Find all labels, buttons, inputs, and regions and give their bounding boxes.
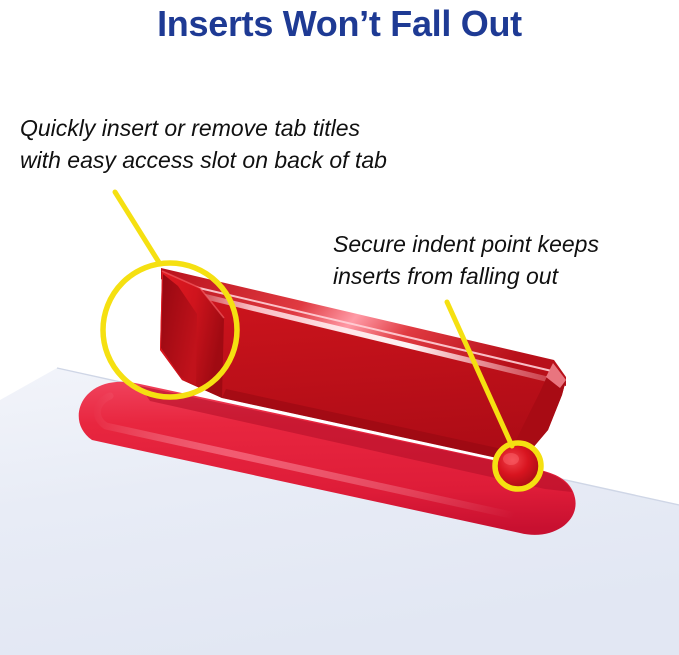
tab-plate-bottom-edge [222, 389, 520, 463]
illustration-canvas [0, 0, 679, 655]
tab-spine [79, 382, 576, 535]
highlight-circle-slot [103, 263, 237, 397]
paper-sheet [0, 368, 679, 655]
sheet-body [0, 368, 679, 655]
tab-plate-specular-thin [178, 283, 556, 372]
tab-plate-endcap-edge [162, 271, 224, 318]
secure-indent-dot [496, 446, 540, 488]
tab-plate-specular [186, 292, 559, 382]
tab-plate-endcap [160, 271, 224, 398]
tab-plate-body [160, 271, 566, 463]
callout-secure-indent-point: Secure indent point keeps inserts from f… [333, 228, 599, 292]
tab-spine-body [79, 382, 576, 535]
sheet-top-edge [57, 368, 679, 505]
tab-spine-highlight [97, 396, 554, 518]
access-slot [161, 274, 197, 385]
callout-insert-remove-slot: Quickly insert or remove tab titles with… [20, 112, 387, 176]
highlight-circle-indent [495, 443, 541, 489]
leader-line-slot [115, 192, 160, 264]
indent-dot [496, 446, 540, 488]
tab-plate-right-face [516, 363, 566, 463]
tab-spine-shadow [140, 386, 572, 492]
product-illustration [0, 0, 679, 655]
page-title: Inserts Won’t Fall Out [0, 2, 679, 46]
product-feature-infographic: Inserts Won’t Fall Out Quickly insert or… [0, 0, 679, 655]
indent-dot-highlight [503, 453, 519, 465]
tab-plate [160, 268, 566, 463]
leader-line-indent [447, 302, 512, 446]
tab-plate-right-edge-highlight [546, 363, 566, 388]
